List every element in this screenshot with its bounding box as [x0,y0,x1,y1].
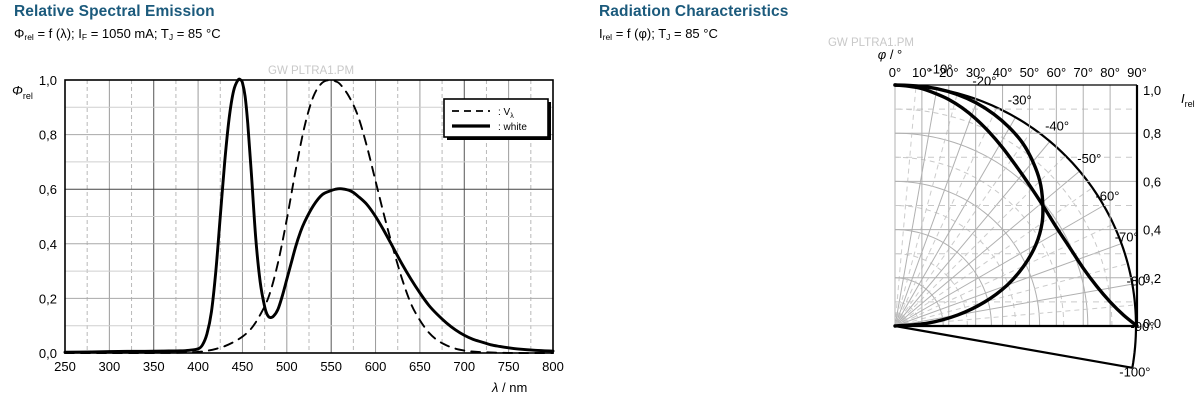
angle-tick-label: -100° [1119,364,1150,379]
angle-axis-label: φ / ° [878,47,903,62]
angle-tick-label: 0° [889,65,901,80]
angle-tick-label: 20° [939,65,959,80]
angle-tick-label: -60° [1095,188,1119,203]
legend-box [444,99,548,137]
angle-tick-label: -50° [1077,151,1101,166]
y-tick-label: 0,4 [39,237,57,252]
angle-tick-label: 80° [1100,65,1120,80]
legend-label-white: : white [498,122,527,133]
angle-tick-label: 90° [1127,65,1147,80]
radial-tick-label: 0,0 [1143,316,1161,331]
angle-tick-label: 50° [1020,65,1040,80]
y-tick-label: 0,0 [39,346,57,361]
x-axis-label: λ / nm [491,380,527,395]
y-tick-label: 1,0 [39,73,57,88]
radiation-characteristics-svg: GW PLTRA1.PM-100°-90°-80°-70°-60°-50°-40… [585,0,1199,402]
angle-tick-label: -30° [1008,93,1032,108]
left-y-tick-labels: 0,00,20,40,60,81,0 [39,73,57,361]
right-chart-canvas: GW PLTRA1.PM-100°-90°-80°-70°-60°-50°-40… [585,0,1199,402]
x-tick-label: 550 [320,359,342,374]
radial-tick-label: 0,8 [1143,126,1161,141]
x-tick-label: 750 [498,359,520,374]
angle-tick-label: 70° [1073,65,1093,80]
y-tick-label: 0,8 [39,128,57,143]
radial-tick-label: 1,0 [1143,83,1161,98]
radial-tick-label: 0,2 [1143,271,1161,286]
spectral-emission-svg: GW PLTRA1.PM2503003504004505005506006507… [0,0,585,402]
angle-tick-label: 30° [966,65,986,80]
radial-axis-label: Irel [1181,91,1195,109]
left-chart-canvas: GW PLTRA1.PM2503003504004505005506006507… [0,0,585,402]
y-tick-label: 0,6 [39,182,57,197]
y-tick-label: 0,2 [39,291,57,306]
watermark-text: GW PLTRA1.PM [268,65,354,77]
angle-tick-label: -40° [1045,119,1069,134]
angle-tick-label: 10° [912,65,932,80]
radial-tick-label: 0,6 [1143,174,1161,189]
x-tick-label: 700 [453,359,475,374]
polar-edge-minus100 [895,326,1132,368]
x-tick-label: 350 [143,359,165,374]
polar-spoke [895,264,1128,326]
left-legend: : Vλ: white [444,99,551,140]
relative-spectral-emission-panel: Relative Spectral Emission Φrel = f (λ);… [0,0,585,402]
radial-tick-labels: 0,00,20,40,60,81,0 [1143,83,1161,331]
angle-tick-label: -70° [1115,230,1139,245]
y-axis-label: Φrel [12,83,33,101]
x-tick-label: 450 [232,359,254,374]
angle-tick-label: 60° [1046,65,1066,80]
x-tick-label: 600 [365,359,387,374]
left-x-tick-labels: 250300350400450500550600650700750800 [54,359,564,374]
radial-tick-label: 0,4 [1143,223,1161,238]
x-tick-label: 500 [276,359,298,374]
x-tick-label: 800 [542,359,564,374]
angle-tick-label: 40° [993,65,1013,80]
x-tick-label: 250 [54,359,76,374]
polar-spoke [895,93,957,326]
radiation-characteristics-panel: Radiation Characteristics Irel = f (φ); … [585,0,1199,402]
x-tick-label: 650 [409,359,431,374]
x-tick-label: 400 [187,359,209,374]
x-tick-label: 300 [99,359,121,374]
